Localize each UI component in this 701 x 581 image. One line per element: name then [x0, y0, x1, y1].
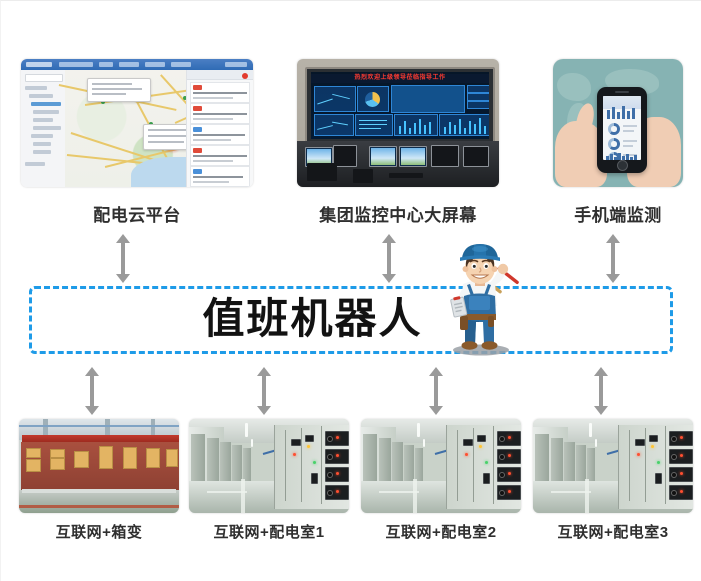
- browser-menu-item: [171, 62, 191, 67]
- bar: [429, 122, 431, 134]
- donut-chart: [608, 138, 620, 150]
- bar: [404, 121, 406, 134]
- floor-reflection: [241, 479, 245, 513]
- box-substation-image: [19, 419, 179, 513]
- arrow-shaft: [262, 374, 266, 408]
- cabinet-divider: [473, 428, 474, 502]
- connector-arrow-mobile-monitoring: [606, 234, 620, 283]
- text-line: [623, 130, 634, 132]
- status-led-yellow: [651, 445, 654, 448]
- tree-node[interactable]: [33, 142, 51, 146]
- bar: [469, 121, 471, 134]
- mobile-monitoring-image: [553, 59, 683, 187]
- caption-distribution-room-3: 互联网+配电室3: [525, 521, 701, 542]
- pie-chart: [365, 92, 380, 107]
- control-label: [311, 473, 318, 484]
- table-row-line: [359, 124, 387, 125]
- bar: [612, 107, 615, 119]
- bar: [464, 128, 466, 134]
- thumbnail-mobile-monitoring[interactable]: [553, 59, 683, 187]
- substation-cabinet: [69, 442, 94, 491]
- table-row-line: [359, 120, 387, 121]
- chart-line-path: [317, 125, 333, 130]
- popup-text-line: [148, 141, 184, 143]
- worker-mascot-icon: [433, 244, 533, 356]
- video-wall-banner: 热烈欢迎上级领导莅临指导工作: [311, 74, 489, 83]
- phone-screen[interactable]: [603, 96, 641, 160]
- floor-safety-line: [19, 505, 179, 508]
- donut-chart: [608, 123, 620, 135]
- wall-kpi-panel: [467, 101, 489, 109]
- phone-earpiece-icon: [615, 91, 629, 93]
- bar: [622, 106, 625, 119]
- ceiling-light: [251, 439, 253, 447]
- alarm-title: [193, 155, 247, 157]
- ceiling-light: [245, 423, 248, 437]
- bar: [479, 118, 481, 134]
- smartphone: [597, 87, 647, 173]
- left-cabinet: [392, 442, 403, 487]
- status-led-green: [485, 461, 488, 464]
- wall-chart-pie: [357, 86, 389, 112]
- bar: [454, 125, 456, 134]
- bar: [632, 108, 635, 119]
- control-label: [635, 439, 645, 446]
- status-led-red: [293, 453, 296, 456]
- popup-text-line: [92, 93, 126, 95]
- ceiling-light: [589, 423, 592, 437]
- alarm-title: [193, 92, 247, 94]
- bar: [614, 157, 617, 160]
- alarm-list-item[interactable]: [190, 166, 250, 187]
- sidebar-search-box[interactable]: [25, 74, 63, 82]
- cabinet-meter-panel: [26, 448, 41, 458]
- cabinet-control-panel: [123, 447, 137, 469]
- ceiling-light: [417, 423, 420, 437]
- cabinet-divider: [285, 430, 286, 501]
- wall-center-visual: [391, 85, 465, 113]
- alarm-severity-badge: [193, 169, 202, 174]
- ceiling-light: [423, 439, 425, 447]
- control-label: [655, 473, 662, 484]
- popup-text-line: [92, 83, 132, 85]
- control-label: [291, 439, 301, 446]
- phone-home-button[interactable]: [617, 160, 628, 171]
- cabinet-control-panel: [74, 451, 89, 468]
- wall-kpi-panel: [467, 93, 489, 101]
- substation-cabinet: [163, 442, 179, 491]
- bar: [449, 122, 451, 134]
- tree-node-selected[interactable]: [31, 102, 61, 106]
- wall-kpi-panel: [467, 85, 489, 93]
- status-led-red: [637, 453, 640, 456]
- alarm-time: [193, 139, 231, 141]
- bar: [626, 154, 629, 160]
- switchgear-cabinet-row: [274, 425, 349, 510]
- wall-table-panel: [355, 114, 393, 136]
- cabinet-divider: [645, 428, 646, 502]
- arrow-head-down-icon: [606, 274, 620, 283]
- alarm-list-item[interactable]: [190, 145, 250, 166]
- tree-node[interactable]: [33, 126, 61, 130]
- floor-reflection: [207, 491, 247, 493]
- arrow-shaft: [599, 374, 603, 408]
- cabinet-divider: [629, 430, 630, 501]
- browser-menu-item: [59, 62, 93, 67]
- tree-node[interactable]: [33, 150, 51, 154]
- arrow-shaft: [611, 241, 615, 276]
- bar: [419, 119, 421, 134]
- arrow-head-down-icon: [85, 406, 99, 415]
- alarm-list-item[interactable]: [190, 103, 250, 124]
- monitor-wallpaper: [371, 148, 395, 165]
- cabinet-divider: [493, 426, 494, 504]
- control-label: [305, 435, 314, 442]
- switchgear-cabinet-row: [446, 425, 521, 510]
- floor-reflection: [413, 479, 417, 513]
- switchgear-cabinet-row: [618, 425, 693, 510]
- chart-line-path: [332, 94, 350, 99]
- tree-node[interactable]: [25, 162, 45, 166]
- substation-cabinet: [21, 442, 46, 491]
- tree-node[interactable]: [31, 134, 53, 138]
- bar: [414, 123, 416, 134]
- bar: [606, 156, 609, 160]
- substation-cabinet: [141, 442, 164, 491]
- desk-monitor: [431, 145, 459, 167]
- bar: [399, 126, 401, 134]
- thumbnail-box-substation[interactable]: [19, 419, 179, 513]
- wall-chart-bar: [439, 114, 489, 136]
- alarm-severity-badge: [193, 85, 202, 90]
- cabinet-divider: [301, 428, 302, 502]
- connector-arrow-distribution-room-2: [429, 367, 443, 415]
- monitor-wallpaper: [401, 148, 425, 165]
- substation-cabinet: [93, 442, 118, 491]
- text-line: [623, 140, 637, 142]
- arrow-head-down-icon: [594, 406, 608, 415]
- desk-chair: [353, 169, 373, 183]
- arrow-head-down-icon: [116, 274, 130, 283]
- left-cabinet: [415, 448, 423, 482]
- caption-distribution-room-2: 互联网+配电室2: [353, 521, 529, 542]
- alarm-time: [193, 160, 233, 162]
- browser-logo-icon: [26, 62, 52, 67]
- wall-chart-bar: [394, 114, 438, 136]
- alarm-title: [193, 134, 245, 136]
- caption-mobile-monitoring: 手机端监测: [553, 201, 683, 226]
- table-row-line: [359, 128, 381, 129]
- alarm-severity-badge: [193, 148, 202, 153]
- arrow-shaft: [434, 374, 438, 408]
- browser-menu-item: [145, 62, 165, 67]
- diagram-canvas: 配电云平台 热烈欢迎上级领导莅临指导工作: [0, 0, 701, 581]
- alarm-severity-badge: [193, 106, 202, 111]
- arrow-shaft: [387, 241, 391, 276]
- ceiling-light: [595, 439, 597, 447]
- alarm-time: [193, 97, 233, 99]
- bar: [627, 111, 630, 119]
- status-led-green: [657, 461, 660, 464]
- floor: [19, 490, 179, 513]
- video-wall-bezel: 热烈欢迎上级领导莅临指导工作: [305, 67, 495, 145]
- thumbnail-control-center[interactable]: 热烈欢迎上级领导莅临指导工作: [297, 59, 499, 187]
- bar: [617, 112, 620, 119]
- distribution-room-3-image: [533, 419, 693, 513]
- substation-cabinet: [45, 442, 70, 491]
- browser-menu-item: [99, 62, 113, 67]
- cabinet-base-curb: [22, 489, 176, 493]
- tree-node[interactable]: [25, 86, 47, 90]
- status-led-yellow: [479, 445, 482, 448]
- bar: [484, 126, 486, 134]
- bar: [610, 154, 613, 160]
- status-led-red: [465, 453, 468, 456]
- thumbnail-distribution-room-2[interactable]: [361, 419, 521, 513]
- arrow-shaft: [90, 374, 94, 408]
- left-cabinet: [220, 442, 231, 487]
- cabinet-divider: [321, 426, 322, 504]
- cabinet-divider: [665, 426, 666, 504]
- alarm-severity-badge: [193, 127, 202, 132]
- bar: [630, 157, 633, 160]
- cabinet-meter-panel: [50, 449, 65, 458]
- left-cabinet: [564, 442, 575, 487]
- caption-box-substation: 互联网+箱变: [11, 521, 187, 542]
- caption-cloud-platform: 配电云平台: [21, 201, 253, 226]
- wall-chart-line: [314, 86, 356, 112]
- bar: [459, 119, 461, 134]
- cabinet-control-panel: [99, 446, 113, 469]
- floor-reflection: [379, 491, 419, 493]
- chart-line-path: [332, 122, 348, 126]
- cabinet-control-panel: [146, 448, 160, 468]
- left-cabinet: [587, 448, 595, 482]
- arrow-head-down-icon: [429, 406, 443, 415]
- alarm-list-panel[interactable]: [186, 70, 253, 187]
- substation-cabinet: [117, 442, 142, 491]
- map-info-popup: [87, 78, 151, 102]
- alarm-list-item[interactable]: [190, 82, 250, 103]
- caption-distribution-room-1: 互联网+配电室1: [181, 521, 357, 542]
- desk-monitor: [463, 146, 489, 167]
- connector-arrow-control-center: [382, 234, 396, 283]
- distribution-room-1-image: [189, 419, 349, 513]
- operator-desk: [297, 141, 499, 187]
- connector-arrow-distribution-room-1: [257, 367, 271, 415]
- alarm-time: [193, 181, 229, 183]
- desk-equipment: [307, 163, 337, 181]
- control-label: [649, 435, 658, 442]
- map-view[interactable]: [65, 70, 187, 187]
- thumbnail-distribution-room-1[interactable]: [189, 419, 349, 513]
- bar: [474, 124, 476, 134]
- floor-reflection: [585, 479, 589, 513]
- tree-node[interactable]: [33, 110, 59, 114]
- cabinet-divider: [457, 430, 458, 501]
- text-line: [623, 125, 637, 127]
- alarm-title: [193, 113, 247, 115]
- bar: [444, 127, 446, 134]
- status-led-yellow: [307, 445, 310, 448]
- continent-shape: [557, 73, 591, 101]
- arrow-head-down-icon: [382, 274, 396, 283]
- control-label: [477, 435, 486, 442]
- cabinet-control-panel: [26, 459, 41, 472]
- cabinet-control-panel: [166, 449, 178, 467]
- browser-user-label: [225, 62, 247, 67]
- arrow-shaft: [121, 241, 125, 276]
- connector-arrow-cloud-platform: [116, 234, 130, 283]
- browser-tree-sidebar[interactable]: [21, 70, 66, 187]
- distribution-room-2-image: [361, 419, 521, 513]
- browser-menu-item: [119, 62, 139, 67]
- duty-robot-title: 值班机器人: [1, 287, 701, 353]
- tree-node[interactable]: [29, 94, 53, 98]
- thumbnail-cloud-platform[interactable]: [21, 59, 253, 187]
- ceiling-beam: [19, 425, 179, 427]
- caption-control-center: 集团监控中心大屏幕: [287, 201, 509, 226]
- duty-worker-mascot: [433, 244, 533, 356]
- bar: [618, 153, 621, 160]
- wall-chart-line: [314, 114, 354, 136]
- record-indicator-icon: [242, 73, 248, 79]
- desk-monitor: [399, 146, 427, 167]
- cloud-platform-image: [21, 59, 253, 187]
- bar: [634, 155, 637, 160]
- arrow-head-down-icon: [257, 406, 271, 415]
- thumbnail-distribution-room-3[interactable]: [533, 419, 693, 513]
- cabinet-control-panel: [50, 458, 65, 470]
- alarm-title: [193, 176, 243, 178]
- chart-line-path: [317, 99, 333, 105]
- alarm-list-item[interactable]: [190, 124, 250, 145]
- alarm-time: [193, 118, 233, 120]
- connector-arrow-distribution-room-3: [594, 367, 608, 415]
- desk-monitor: [369, 146, 397, 167]
- control-center-image: 热烈欢迎上级领导莅临指导工作: [297, 59, 499, 187]
- bar: [607, 110, 610, 119]
- control-label: [483, 473, 490, 484]
- bar: [424, 125, 426, 134]
- connector-arrow-box-substation: [85, 367, 99, 415]
- floor-reflection: [551, 491, 591, 493]
- video-wall-screen: 热烈欢迎上级领导莅临指导工作: [311, 72, 489, 139]
- left-cabinet: [243, 448, 251, 482]
- text-line: [623, 145, 633, 147]
- tree-node[interactable]: [33, 118, 53, 122]
- status-led-green: [313, 461, 316, 464]
- browser-titlebar: [21, 59, 253, 70]
- control-label: [463, 439, 473, 446]
- desk-keyboard: [389, 173, 423, 178]
- bar: [409, 128, 411, 134]
- popup-text-line: [92, 88, 142, 90]
